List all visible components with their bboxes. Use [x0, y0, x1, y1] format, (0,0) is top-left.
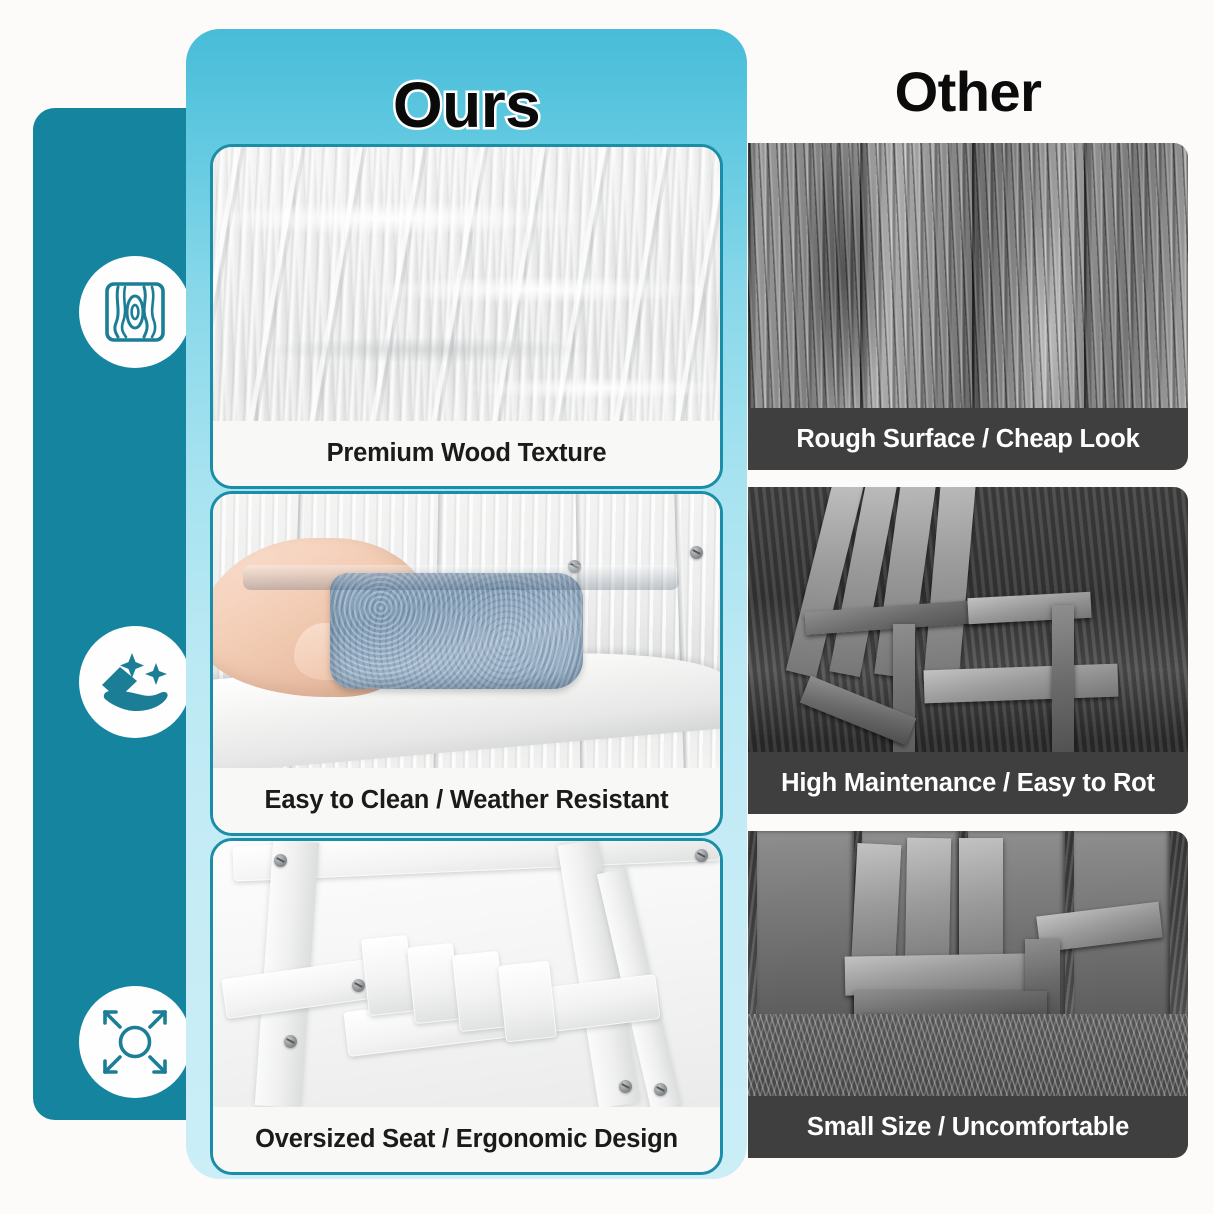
- other-caption-2: Small Size / Uncomfortable: [748, 1096, 1188, 1158]
- icon-badge-easy-clean: [79, 626, 191, 738]
- ours-title: Ours: [186, 73, 747, 137]
- ours-caption-0: Premium Wood Texture: [213, 421, 720, 486]
- other-title: Other: [748, 64, 1188, 120]
- cleaning-hand-sparkle-icon: [96, 645, 174, 719]
- comparison-infographic: Ours Premium Wood Texture: [0, 0, 1214, 1214]
- other-card-small-size: Small Size / Uncomfortable: [748, 831, 1188, 1158]
- other-caption-1: High Maintenance / Easy to Rot: [748, 752, 1188, 814]
- other-caption-0: Rough Surface / Cheap Look: [748, 408, 1188, 470]
- ours-caption-1: Easy to Clean / Weather Resistant: [213, 768, 720, 833]
- icon-badge-wood-grain: [79, 256, 191, 368]
- ours-panel: Ours Premium Wood Texture: [186, 29, 747, 1179]
- other-card-high-maintenance: High Maintenance / Easy to Rot: [748, 487, 1188, 814]
- ours-card-oversized-seat: Oversized Seat / Ergonomic Design: [210, 838, 723, 1175]
- icon-badge-oversized: [79, 986, 191, 1098]
- ours-card-easy-to-clean: Easy to Clean / Weather Resistant: [210, 491, 723, 836]
- ours-photo-cleaning: [213, 494, 720, 768]
- ours-card-premium-wood-texture: Premium Wood Texture: [210, 144, 723, 489]
- expand-arrows-icon: [97, 1004, 173, 1080]
- ours-photo-wood-texture: [213, 147, 720, 421]
- wood-grain-icon: [98, 275, 172, 349]
- ours-photo-seat: [213, 841, 720, 1107]
- other-card-rough-surface: Rough Surface / Cheap Look: [748, 143, 1188, 470]
- ours-caption-2: Oversized Seat / Ergonomic Design: [213, 1107, 720, 1172]
